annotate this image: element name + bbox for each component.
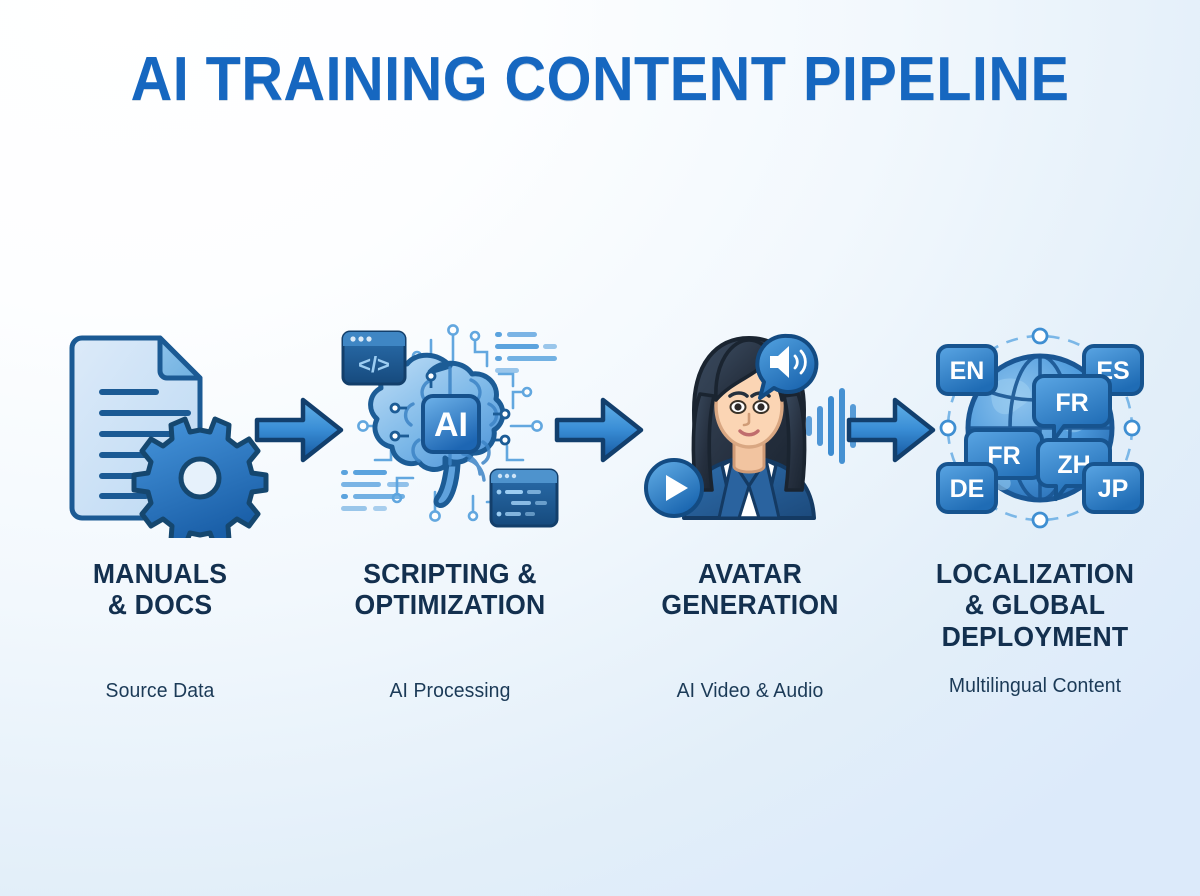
infographic-canvas: AI TRAINING CONTENT PIPELINE xyxy=(0,0,1200,896)
stage-title: AVATAR GENERATION xyxy=(622,558,879,621)
svg-text:EN: EN xyxy=(950,357,985,385)
speaker-bubble-icon xyxy=(757,336,816,398)
stage-label-scripting-optimization: SCRIPTING & OPTIMIZATION AI Processing xyxy=(315,558,585,703)
language-tag-jp: JP xyxy=(1084,464,1142,512)
ai-chip-badge: AI xyxy=(423,396,479,452)
stage-title: LOCALIZATION & GLOBAL DEPLOYMENT xyxy=(902,558,1168,652)
pipeline-labels: MANUALS & DOCS Source Data SCRIPTING & O… xyxy=(0,558,1200,718)
stage-subtitle: AI Processing xyxy=(319,679,581,703)
avatar-presenter-icon xyxy=(632,318,862,538)
stage-label-localization-deployment: LOCALIZATION & GLOBAL DEPLOYMENT Multili… xyxy=(895,558,1175,698)
svg-text:FR: FR xyxy=(1055,389,1088,417)
stage-icon-avatar-generation xyxy=(632,318,862,538)
stage-icon-scripting-optimization: AI </> xyxy=(335,318,565,538)
ai-brain-circuit-icon: AI </> xyxy=(335,318,565,538)
stage-label-manuals-docs: MANUALS & DOCS Source Data xyxy=(35,558,285,703)
avatar-hair-right xyxy=(784,394,805,490)
language-tag-de: DE xyxy=(938,464,996,512)
stage-title: MANUALS & DOCS xyxy=(41,558,279,621)
pipeline-arrow-1 xyxy=(253,394,345,466)
ai-chip-label: AI xyxy=(434,406,468,444)
arrow-right-icon xyxy=(553,394,645,466)
page-title: AI TRAINING CONTENT PIPELINE xyxy=(42,44,1158,115)
code-glyph: </> xyxy=(358,352,390,377)
stage-label-avatar-generation: AVATAR GENERATION AI Video & Audio xyxy=(615,558,885,703)
data-bars-right xyxy=(495,332,557,373)
arrow-right-icon xyxy=(253,394,345,466)
pipeline-arrow-3 xyxy=(845,394,937,466)
svg-text:DE: DE xyxy=(950,475,985,503)
play-button-icon[interactable] xyxy=(646,460,702,516)
stage-subtitle: Source Data xyxy=(39,679,282,703)
code-window-top: </> xyxy=(343,332,405,384)
language-tag-en: EN xyxy=(938,346,996,394)
stage-subtitle: Multilingual Content xyxy=(899,674,1171,698)
code-window-bottom xyxy=(491,470,557,526)
stage-title: SCRIPTING & OPTIMIZATION xyxy=(322,558,579,621)
stage-icon-localization-deployment: EN ES FR FR ZH xyxy=(922,318,1152,538)
svg-text:JP: JP xyxy=(1098,475,1129,503)
data-bars-left xyxy=(341,470,409,511)
document-fold xyxy=(160,338,200,378)
arrow-right-icon xyxy=(845,394,937,466)
globe-languages-icon: EN ES FR FR ZH xyxy=(922,318,1162,538)
pipeline-arrow-2 xyxy=(553,394,645,466)
stage-subtitle: AI Video & Audio xyxy=(619,679,881,703)
